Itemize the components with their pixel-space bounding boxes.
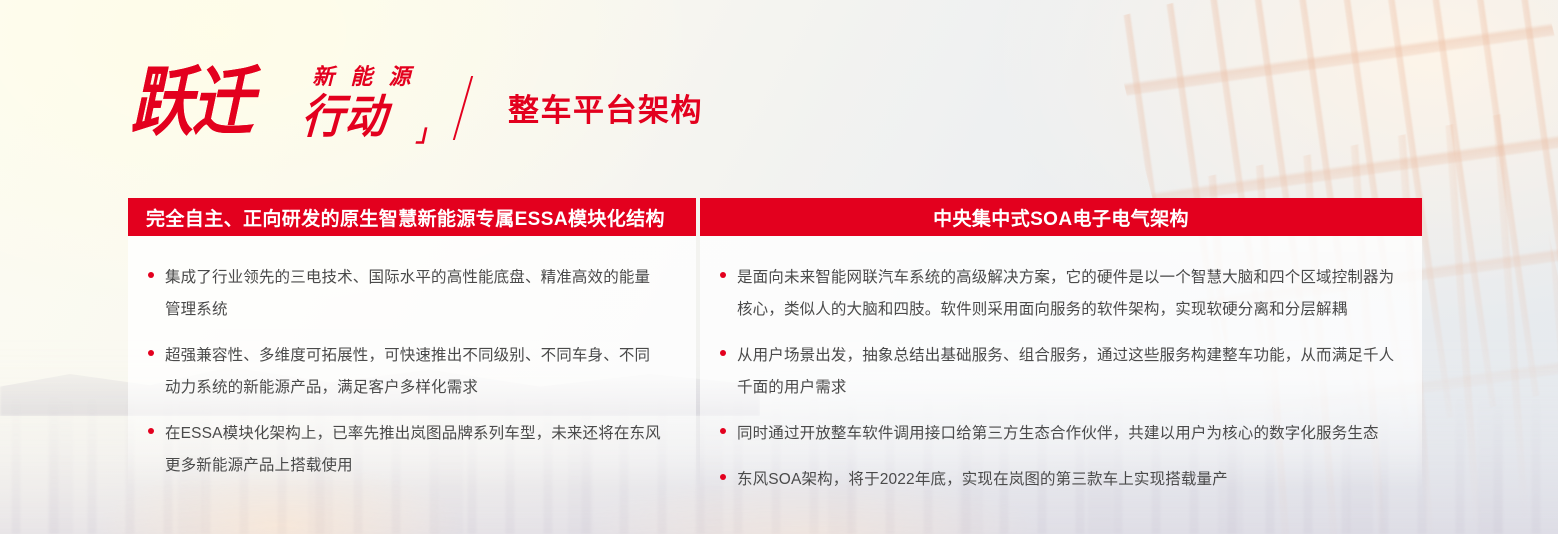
logo-subtitle-top: 新 能 源 [311,66,420,88]
list-item: 在ESSA模块化架构上，已率先推出岚图品牌系列车型，未来还将在东风更多新能源产品… [148,418,680,482]
bullet-text: 集成了行业领先的三电技术、国际水平的高性能底盘、精准高效的能量管理系统 [165,262,665,326]
bullet-dot-icon [720,474,726,480]
bullet-text: 在ESSA模块化架构上，已率先推出岚图品牌系列车型，未来还将在东风更多新能源产品… [165,418,665,482]
bullet-text: 是面向未来智能网联汽车系统的高级解决方案，它的硬件是以一个智慧大脑和四个区域控制… [737,262,1406,326]
column-soa: 中央集中式SOA电子电气架构 是面向未来智能网联汽车系统的高级解决方案，它的硬件… [700,198,1422,510]
bullet-text: 同时通过开放整车软件调用接口给第三方生态合作伙伴，共建以用户为核心的数字化服务生… [737,418,1379,450]
page-title: 整车平台架构 [508,85,703,130]
bullet-dot-icon [148,428,154,434]
logo-close-quote-icon: 「 [415,118,444,142]
slide-root: 「 跃迁 新 能 源 行动 「 整车平台架构 完全自主、正向研发的原生智慧新能源… [0,0,1558,534]
bullet-dot-icon [720,428,726,434]
list-item: 从用户场景出发，抽象总结出基础服务、组合服务，通过这些服务构建整车功能，从而满足… [720,340,1406,404]
bullet-list-essa: 集成了行业领先的三电技术、国际水平的高性能底盘、精准高效的能量管理系统 超强兼容… [128,236,696,482]
list-item: 是面向未来智能网联汽车系统的高级解决方案，它的硬件是以一个智慧大脑和四个区域控制… [720,262,1406,326]
logo-subtitle-bottom: 行动 [299,94,398,140]
list-item: 集成了行业领先的三电技术、国际水平的高性能底盘、精准高效的能量管理系统 [148,262,680,326]
list-item: 超强兼容性、多维度可拓展性，可快速推出不同级别、不同车身、不同动力系统的新能源产… [148,340,680,404]
header-slash-divider [453,76,473,140]
section-header-soa: 中央集中式SOA电子电气架构 [700,198,1422,236]
bullet-text: 超强兼容性、多维度可拓展性，可快速推出不同级别、不同车身、不同动力系统的新能源产… [165,340,665,404]
brand-logo: 「 跃迁 新 能 源 行动 「 [132,64,442,150]
section-header-essa: 完全自主、正向研发的原生智慧新能源专属ESSA模块化结构 [128,198,696,236]
bullet-text: 东风SOA架构，将于2022年底，实现在岚图的第三款车上实现搭载量产 [737,464,1228,496]
logo-main-text: 跃迁 [128,66,266,142]
list-item: 东风SOA架构，将于2022年底，实现在岚图的第三款车上实现搭载量产 [720,464,1406,496]
bullet-dot-icon [148,350,154,356]
column-essa: 完全自主、正向研发的原生智慧新能源专属ESSA模块化结构 集成了行业领先的三电技… [128,198,696,496]
bullet-list-soa: 是面向未来智能网联汽车系统的高级解决方案，它的硬件是以一个智慧大脑和四个区域控制… [700,236,1422,496]
bullet-text: 从用户场景出发，抽象总结出基础服务、组合服务，通过这些服务构建整车功能，从而满足… [737,340,1406,404]
slide-header: 「 跃迁 新 能 源 行动 「 整车平台架构 [132,62,703,152]
list-item: 同时通过开放整车软件调用接口给第三方生态合作伙伴，共建以用户为核心的数字化服务生… [720,418,1406,450]
bullet-dot-icon [148,272,154,278]
bullet-dot-icon [720,350,726,356]
bullet-dot-icon [720,272,726,278]
